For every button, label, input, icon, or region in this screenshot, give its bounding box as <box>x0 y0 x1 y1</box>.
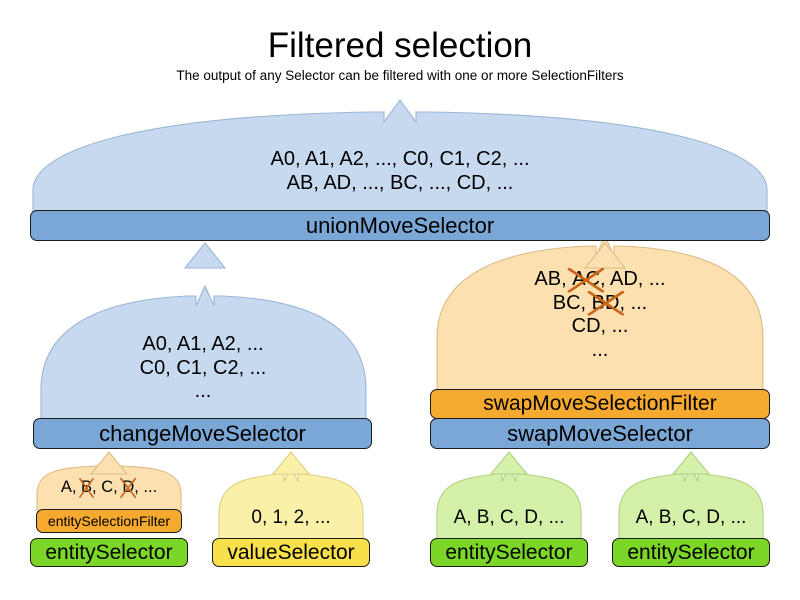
token: A, <box>61 478 81 496</box>
swap-output-text-line-1: AB, AC, AD, ... <box>430 268 770 292</box>
node-value-selector-label: valueSelector <box>227 541 354 565</box>
node-entity-selection-filter[interactable]: entitySelectionFilter <box>36 509 182 533</box>
token: , ... <box>134 478 157 496</box>
node-entity-selection-filter-label: entitySelectionFilter <box>48 513 170 529</box>
swap-output-text-line-2: BC, BD, ... <box>430 292 770 316</box>
change-output-line-3: ... <box>33 380 373 404</box>
change-output-text: A0, A1, A2, ... C0, C1, C2, ... ... <box>33 333 373 404</box>
node-entity-selector-filtered-label: entitySelector <box>45 541 172 565</box>
token: AB, <box>534 268 572 290</box>
node-entity-selector-swap-left-label: entitySelector <box>445 541 572 565</box>
arrow-entityswapleft-to-swap <box>491 452 527 474</box>
node-swap-move-selection-filter[interactable]: swapMoveSelectionFilter <box>430 389 770 419</box>
entity-swap-left-output-text: A, B, C, D, ... <box>430 507 588 529</box>
node-union-move-selector-label: unionMoveSelector <box>306 213 494 239</box>
entity-filtered-output-text-line-1: A, B, C, D, ... <box>30 478 188 497</box>
union-output-line-2: AB, AD, ..., BC, ..., CD, ... <box>0 172 800 196</box>
node-entity-selector-swap-right-label: entitySelector <box>627 541 754 565</box>
struck-token: BD <box>592 292 620 316</box>
arrow-entityfiltered-to-change <box>91 452 127 474</box>
node-swap-move-selector-label: swapMoveSelector <box>507 421 693 447</box>
node-entity-selector-swap-left[interactable]: entitySelector <box>430 538 588 567</box>
swap-output-text-line-3: CD, ... <box>430 315 770 339</box>
change-output-line-1: A0, A1, A2, ... <box>33 333 373 357</box>
entity-swap-left-dome-shape <box>437 466 581 542</box>
node-union-move-selector[interactable]: unionMoveSelector <box>30 210 770 241</box>
node-swap-move-selection-filter-label: swapMoveSelectionFilter <box>483 392 716 416</box>
arrow-value-to-change <box>273 452 309 474</box>
arrow-entityswapright-to-swap <box>673 452 709 474</box>
change-output-line-2: C0, C1, C2, ... <box>33 357 373 381</box>
node-entity-selector-swap-right[interactable]: entitySelector <box>612 538 770 567</box>
node-change-move-selector[interactable]: changeMoveSelector <box>33 418 372 449</box>
node-value-selector[interactable]: valueSelector <box>212 538 370 567</box>
node-swap-move-selector[interactable]: swapMoveSelector <box>430 418 770 449</box>
struck-token: B <box>81 478 92 497</box>
value-dome-shape <box>219 466 363 542</box>
value-output-text: 0, 1, 2, ... <box>212 507 370 529</box>
swap-output-text: AB, AC, AD, ...BC, BD, ...CD, ...... <box>430 268 770 362</box>
token: , C, <box>92 478 122 496</box>
diagram-canvas: Filtered selection The output of any Sel… <box>0 0 800 600</box>
arrow-change-to-union <box>185 243 225 268</box>
union-output-text: A0, A1, A2, ..., C0, C1, C2, ... AB, AD,… <box>0 148 800 195</box>
token: , AD, ... <box>600 268 666 290</box>
token: , ... <box>619 292 647 314</box>
entity-filtered-output-text: A, B, C, D, ... <box>30 478 188 497</box>
token: ... <box>592 339 609 361</box>
node-change-move-selector-label: changeMoveSelector <box>99 421 306 447</box>
struck-token: AC <box>572 268 600 292</box>
token: CD, ... <box>572 315 629 337</box>
token: BC, <box>553 292 592 314</box>
entity-swap-right-output-text: A, B, C, D, ... <box>612 507 770 529</box>
value-output-line: 0, 1, 2, ... <box>212 507 370 529</box>
struck-token: D <box>122 478 134 497</box>
entity-swap-left-output-line: A, B, C, D, ... <box>430 507 588 529</box>
entity-swap-right-dome-shape <box>619 466 763 542</box>
node-entity-selector-filtered[interactable]: entitySelector <box>30 538 188 567</box>
swap-output-text-line-4: ... <box>430 339 770 363</box>
entity-swap-right-output-line: A, B, C, D, ... <box>612 507 770 529</box>
union-output-line-1: A0, A1, A2, ..., C0, C1, C2, ... <box>0 148 800 172</box>
